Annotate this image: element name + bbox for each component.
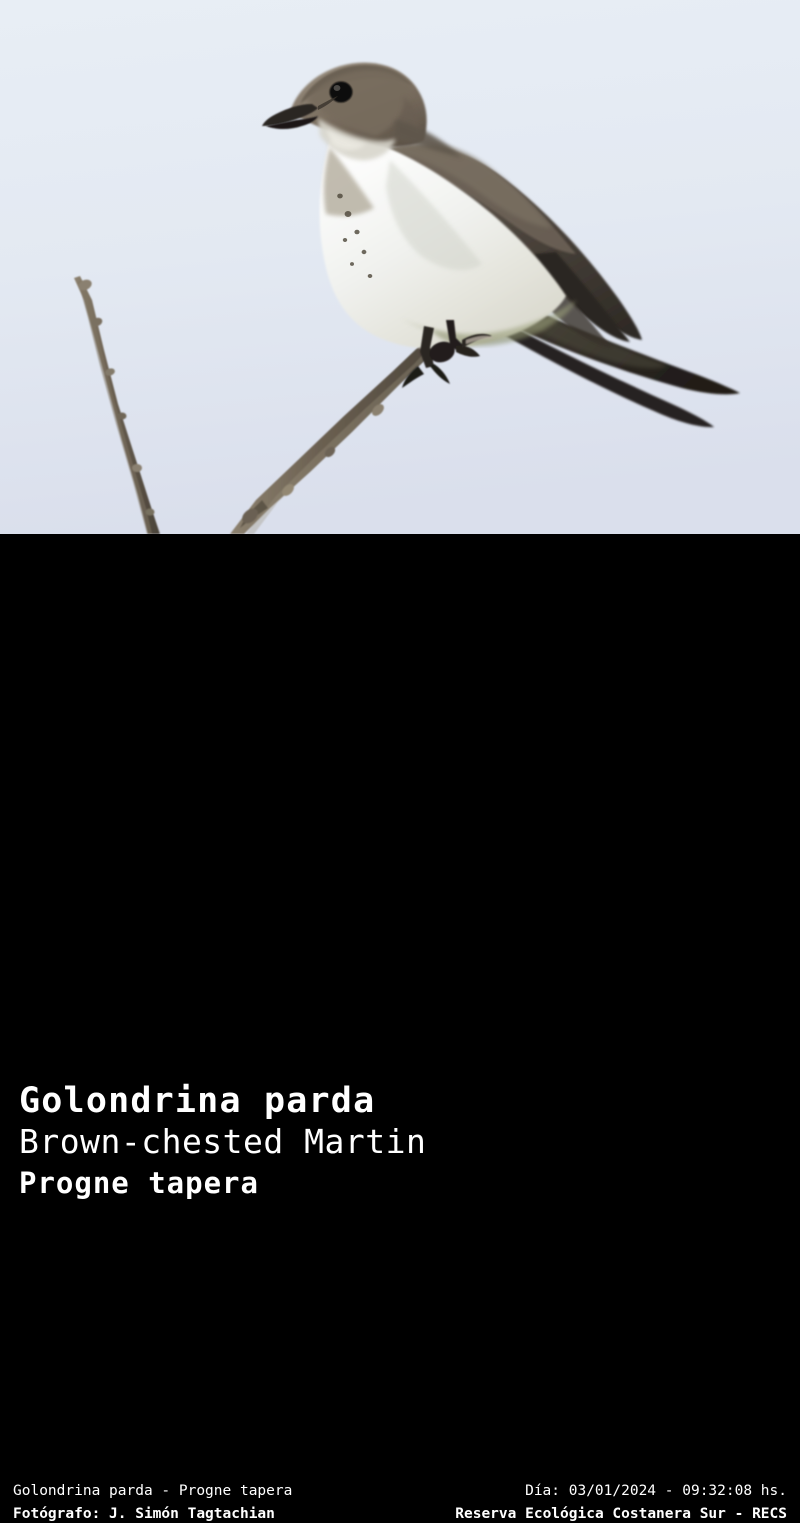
footer-datetime: Día: 03/01/2024 - 09:32:08 hs. xyxy=(525,1482,787,1500)
footer-species-line: Golondrina parda - Progne tapera xyxy=(13,1482,292,1500)
photo-card: Golondrina parda Brown-chested Martin Pr… xyxy=(0,0,800,800)
caption-block: Golondrina parda Brown-chested Martin Pr… xyxy=(0,534,800,734)
footer-block: Golondrina parda - Progne tapera Fotógra… xyxy=(0,734,800,800)
footer-photographer: Fotógrafo: J. Simón Tagtachian xyxy=(13,1505,275,1523)
common-name-spanish: Golondrina parda xyxy=(19,1081,375,1121)
scientific-name: Progne tapera xyxy=(19,1166,259,1200)
bird-photograph xyxy=(0,0,800,534)
common-name-english: Brown-chested Martin xyxy=(19,1123,426,1161)
footer-location: Reserva Ecológica Costanera Sur - RECS xyxy=(455,1505,787,1523)
photo-illustration xyxy=(0,0,800,534)
